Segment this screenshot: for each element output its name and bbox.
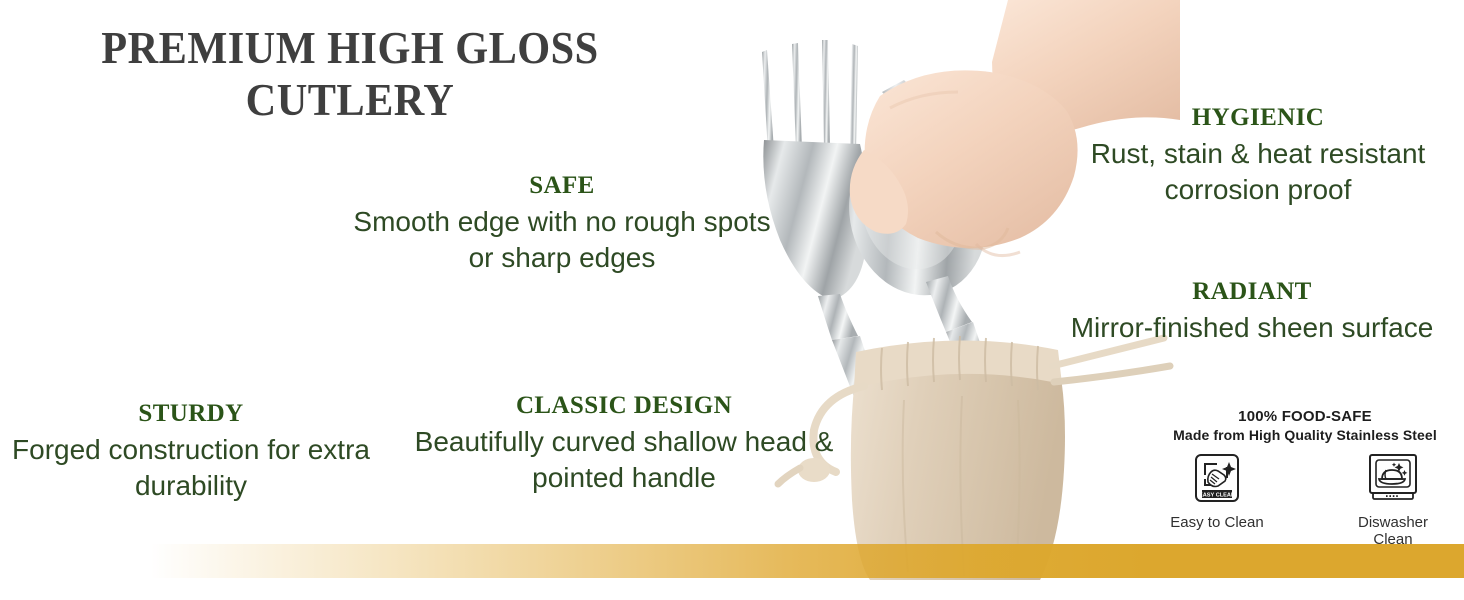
dishwasher-clean-icon xyxy=(1366,453,1420,508)
feature-classic-design: CLASSIC DESIGN Beautifully curved shallo… xyxy=(398,392,850,496)
infographic-canvas: PREMIUM HIGH GLOSS CUTLERY xyxy=(0,0,1464,600)
feature-hygienic: HYGIENIC Rust, stain & heat resistant co… xyxy=(1058,104,1458,208)
easy-clean-badge-text: EASY CLEAN xyxy=(1199,492,1235,498)
feature-hygienic-body: Rust, stain & heat resistant corrosion p… xyxy=(1058,136,1458,208)
feature-classic-design-heading: CLASSIC DESIGN xyxy=(398,392,850,420)
fork-handle-band xyxy=(854,392,892,454)
title-line-1: PREMIUM HIGH GLOSS xyxy=(65,22,635,74)
feature-sturdy-body: Forged construction for extra durability xyxy=(8,432,374,504)
dishwasher-clean-label: Diswasher Clean xyxy=(1338,514,1448,548)
feature-safe: SAFE Smooth edge with no rough spots or … xyxy=(352,172,772,276)
easy-clean-icon: EASY CLEAN xyxy=(1194,453,1240,508)
food-safe-badge: 100% FOOD-SAFE Made from High Quality St… xyxy=(1150,408,1460,548)
feature-classic-design-body: Beautifully curved shallow head & pointe… xyxy=(398,424,850,496)
title-line-2: CUTLERY xyxy=(65,74,635,126)
dishwasher-clean-item: Diswasher Clean xyxy=(1338,453,1448,548)
feature-radiant-heading: RADIANT xyxy=(1040,278,1464,306)
food-safe-subline: Made from High Quality Stainless Steel xyxy=(1150,427,1460,443)
feature-sturdy-heading: STURDY xyxy=(8,400,374,428)
easy-to-clean-label: Easy to Clean xyxy=(1170,514,1263,531)
feature-hygienic-heading: HYGIENIC xyxy=(1058,104,1458,132)
spoon-graphic xyxy=(832,80,1004,432)
care-icon-row: EASY CLEAN Easy to Clean xyxy=(1150,453,1460,548)
feature-safe-heading: SAFE xyxy=(352,172,772,200)
food-safe-headline: 100% FOOD-SAFE xyxy=(1150,408,1460,425)
feature-radiant-body: Mirror-finished sheen surface xyxy=(1040,310,1464,346)
easy-to-clean-item: EASY CLEAN Easy to Clean xyxy=(1162,453,1272,531)
feature-sturdy: STURDY Forged construction for extra dur… xyxy=(8,400,374,504)
gold-accent-bar xyxy=(0,544,1464,578)
feature-safe-body: Smooth edge with no rough spots or sharp… xyxy=(352,204,772,276)
spoon-handle-band xyxy=(966,374,1004,432)
feature-radiant: RADIANT Mirror-finished sheen surface xyxy=(1040,278,1464,346)
page-title: PREMIUM HIGH GLOSS CUTLERY xyxy=(40,22,660,125)
